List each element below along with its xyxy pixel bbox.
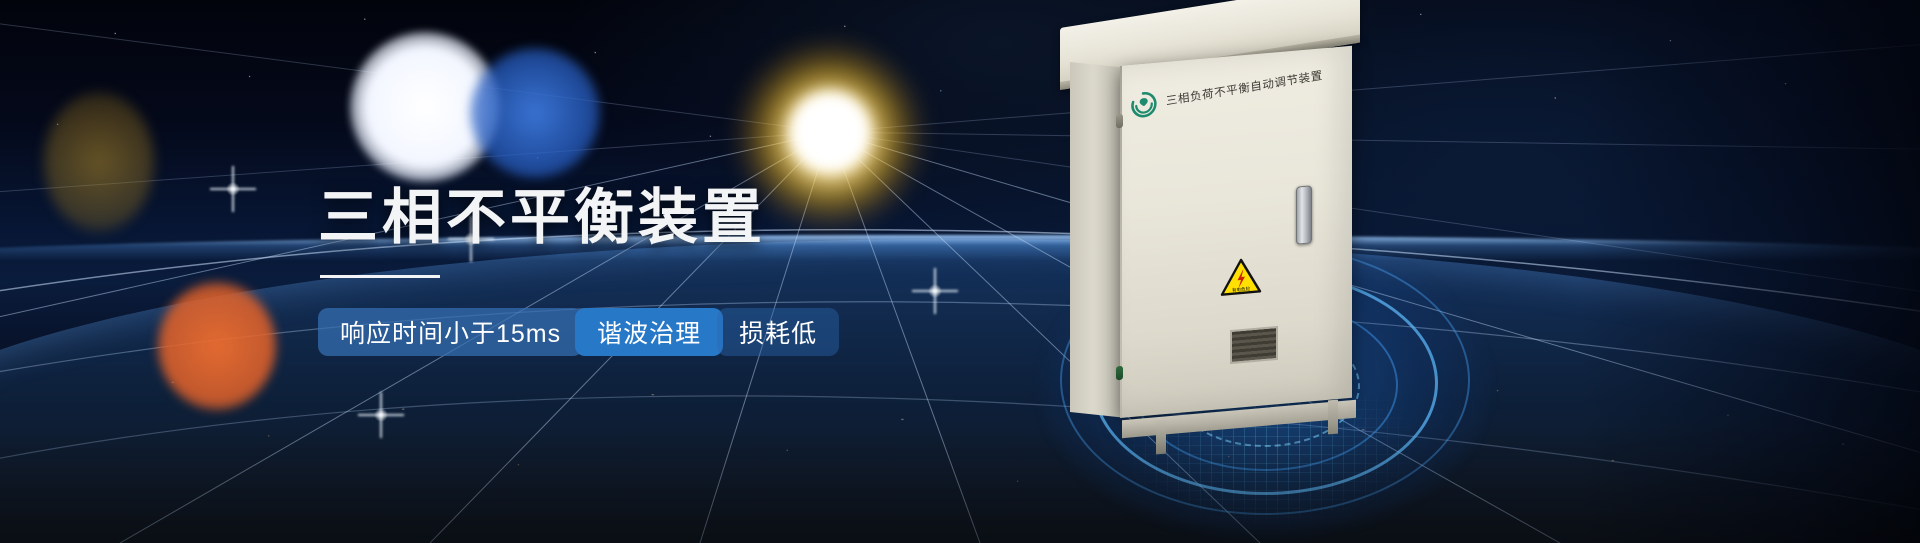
feature-tag-harmonic-control[interactable]: 谐波治理 <box>575 308 723 356</box>
green-circular-company-logo-icon <box>1130 90 1158 120</box>
cabinet-side-panel <box>1070 62 1122 417</box>
electrical-hazard-warning-icon: 有电危险 <box>1220 256 1262 298</box>
product-cabinet: 三相负荷不平衡自动调节装置 有电危险 <box>1060 28 1380 448</box>
title-divider <box>320 275 440 278</box>
feature-tag-list: 响应时间小于15ms 谐波治理 损耗低 <box>318 308 1018 356</box>
banner-copy: 三相不平衡装置 响应时间小于15ms 谐波治理 损耗低 <box>318 186 1018 356</box>
page-title: 三相不平衡装置 <box>318 186 1018 249</box>
door-handle <box>1296 185 1312 244</box>
light-spark <box>232 188 234 190</box>
sun-core <box>790 92 870 172</box>
bokeh-orange-orb <box>158 282 276 410</box>
bokeh-blue-orb <box>470 48 600 178</box>
upper-hinge-icon <box>1116 114 1123 129</box>
ventilation-grille <box>1230 326 1278 364</box>
feature-tag-low-loss[interactable]: 损耗低 <box>717 308 839 356</box>
bokeh-amber-orb <box>44 92 154 232</box>
lower-hinge-icon <box>1116 366 1123 381</box>
support-leg-right <box>1328 400 1338 435</box>
feature-tag-response-time[interactable]: 响应时间小于15ms <box>318 308 583 356</box>
light-spark <box>380 414 382 416</box>
hero-banner: 三相负荷不平衡自动调节装置 有电危险 三相不平衡装置 响应时间小于15ms 谐波… <box>0 0 1920 543</box>
support-leg-left <box>1156 420 1166 455</box>
